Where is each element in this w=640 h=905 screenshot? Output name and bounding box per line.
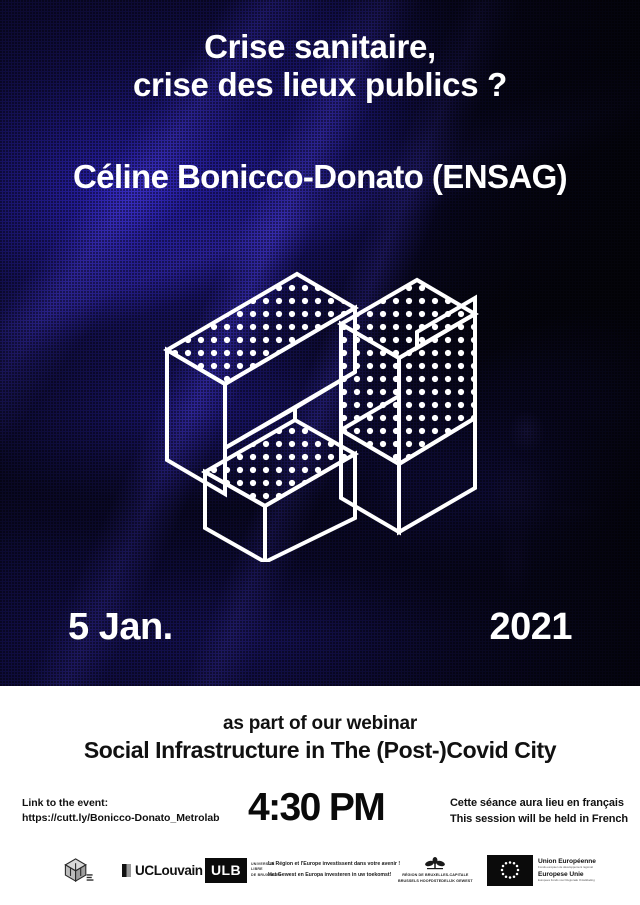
region-slogan-nl: Het Gewest en Europa investeren in uw to… <box>268 870 400 881</box>
poster-root: Crise sanitaire, crise des lieux publics… <box>0 0 640 905</box>
hero-image-area: Crise sanitaire, crise des lieux publics… <box>0 0 640 686</box>
event-link-url[interactable]: https://cutt.ly/Bonicco-Donato_Metrolab <box>22 811 220 826</box>
logo-region-slogan: La Région et l'Europe investissent dans … <box>268 850 400 890</box>
eu-subtitle-fr: Fonds européen de développement régional <box>538 866 596 869</box>
metrolab-isometric-icon <box>62 853 96 887</box>
language-note-fr: Cette séance aura lieu en français <box>450 796 628 812</box>
region-slogan-lines: La Région et l'Europe investissent dans … <box>268 859 400 881</box>
speaker-name: Céline Bonicco-Donato (ENSAG) <box>0 158 640 196</box>
headline-line-2: crise des lieux publics ? <box>0 66 640 104</box>
event-info-strip: Link to the event: https://cutt.ly/Bonic… <box>0 794 640 838</box>
headline-line-1: Crise sanitaire, <box>204 28 436 65</box>
logo-european-union: Union Européenne Fonds européen de dével… <box>487 850 596 890</box>
eu-text-block: Union Européenne Fonds européen de dével… <box>538 858 596 883</box>
event-date-row: 5 Jan. 2021 <box>0 606 640 654</box>
ulb-wordmark: ULB <box>205 858 247 883</box>
brussels-iris-icon <box>423 856 447 870</box>
webinar-intro: as part of our webinar <box>0 712 640 736</box>
webinar-title: Social Infrastructure in The (Post-)Covi… <box>0 736 640 765</box>
eu-subtitle-nl: Europees Fonds voor Regionale Ontwikkeli… <box>538 879 596 882</box>
logo-uclouvain: UCLouvain <box>122 850 203 890</box>
event-language-note: Cette séance aura lieu en français This … <box>450 796 628 828</box>
page-title: Crise sanitaire, crise des lieux publics… <box>0 28 640 105</box>
logo-brussels-capital-region: RÉGION DE BRUXELLES-CAPITALE BRUSSELS HO… <box>398 850 473 890</box>
event-day: 5 Jan. <box>68 606 173 649</box>
brussels-region-nl: BRUSSELS HOOFDSTEDELIJK GEWEST <box>398 878 473 884</box>
uclouvain-square-icon <box>122 864 131 877</box>
isometric-si-monogram-icon <box>145 232 505 562</box>
webinar-series-title: as part of our webinar Social Infrastruc… <box>0 712 640 766</box>
event-time: 4:30 PM <box>248 786 384 830</box>
brussels-region-lines: RÉGION DE BRUXELLES-CAPITALE BRUSSELS HO… <box>398 872 473 885</box>
logo-metrolab <box>62 850 96 890</box>
footer-area: as part of our webinar Social Infrastruc… <box>0 686 640 905</box>
region-slogan-fr: La Région et l'Europe investissent dans … <box>268 859 400 870</box>
uclouvain-wordmark: UCLouvain <box>135 863 203 878</box>
language-note-en: This session will be held in French <box>450 812 628 828</box>
event-link-block[interactable]: Link to the event: https://cutt.ly/Bonic… <box>22 796 220 826</box>
eu-flag-icon <box>487 855 533 886</box>
event-link-label: Link to the event: <box>22 796 220 811</box>
event-year: 2021 <box>489 606 572 649</box>
partner-logo-bar: UCLouvain ULB UNIVERSITÉ LIBRE DE BRUXEL… <box>0 850 640 894</box>
